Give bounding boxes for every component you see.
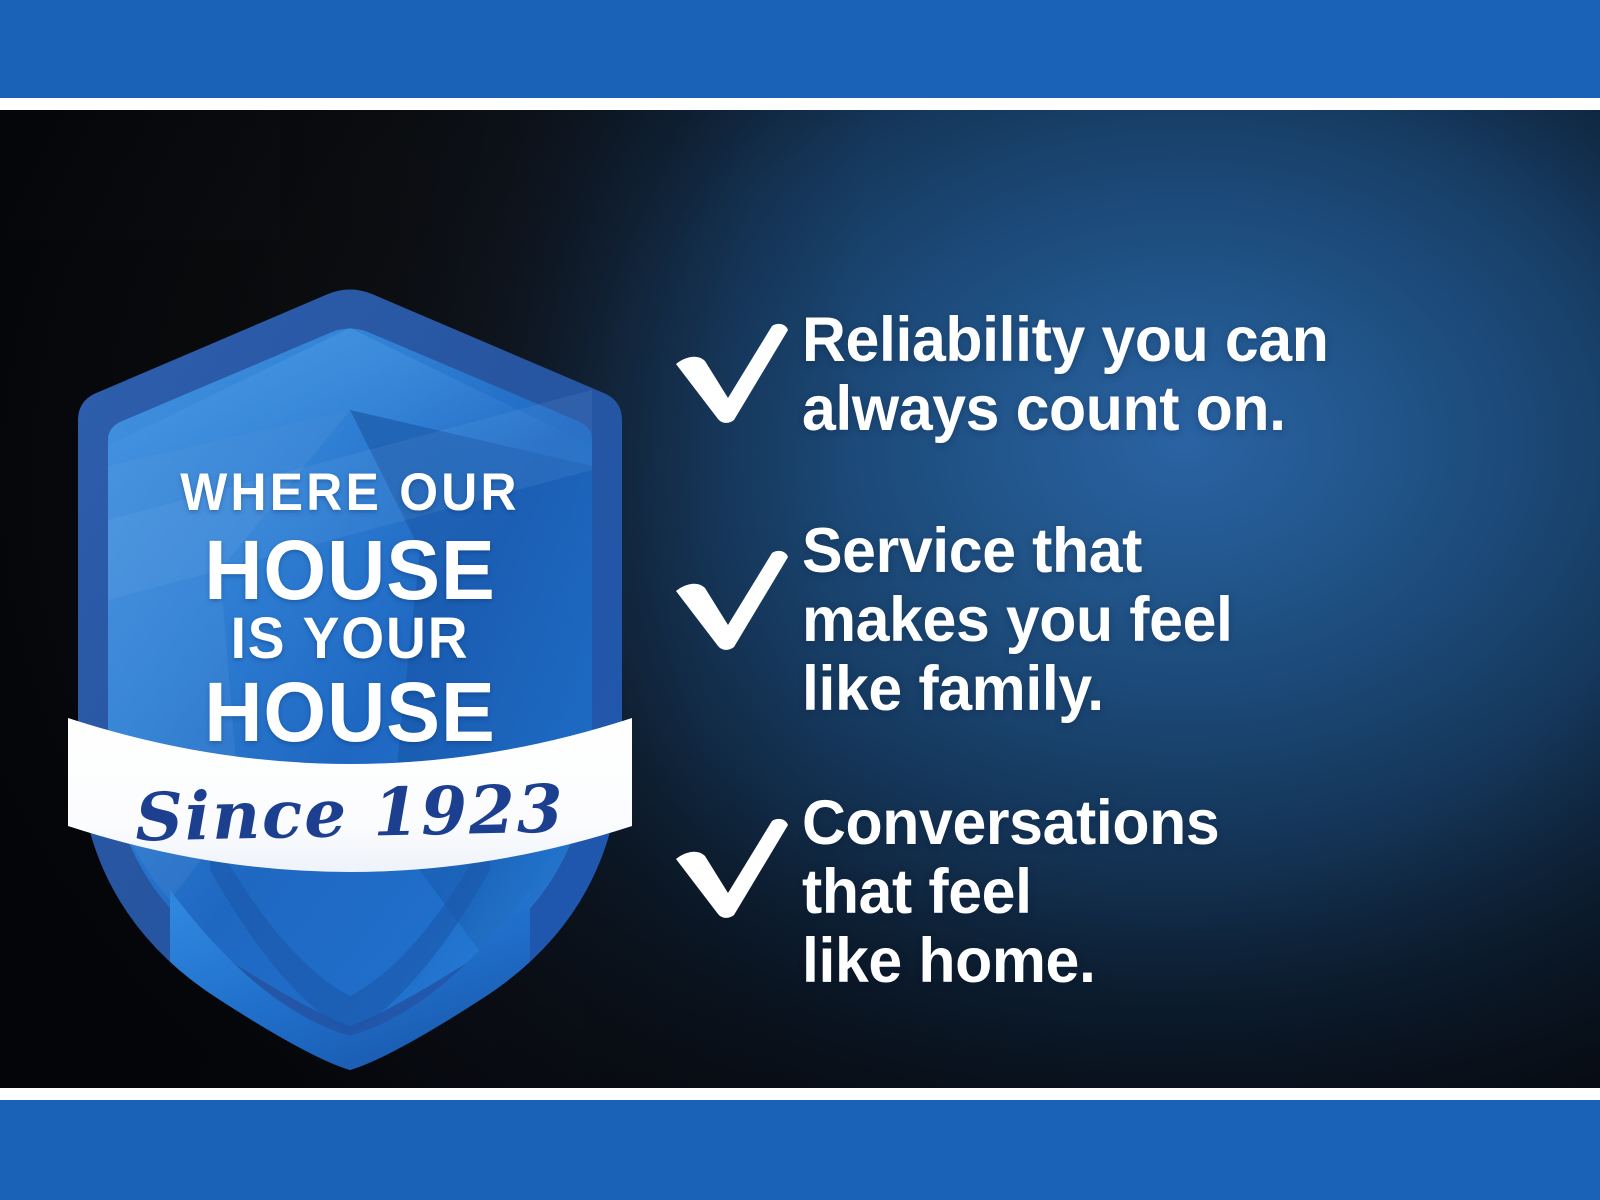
badge-line-2: HOUSE <box>72 528 629 612</box>
benefits-list: Reliability you can always count on. Ser… <box>672 306 1572 1069</box>
badge-line-4: HOUSE <box>72 670 629 754</box>
benefit-item-3: Conversations that feel like home. <box>672 789 1572 995</box>
benefit-text-2: Service that makes you feel like family. <box>802 517 1545 723</box>
promo-graphic: WHERE OUR HOUSE IS YOUR HOUSE Since 1923… <box>0 0 1600 1200</box>
benefit-item-1: Reliability you can always count on. <box>672 306 1572 443</box>
checkmark-icon <box>672 306 802 424</box>
checkmark-icon <box>672 517 802 651</box>
bottom-accent-bar <box>0 1100 1600 1200</box>
benefit-text-1: Reliability you can always count on. <box>802 306 1545 443</box>
shield-badge: WHERE OUR HOUSE IS YOUR HOUSE Since 1923 <box>60 270 640 1070</box>
checkmark-icon <box>672 789 802 919</box>
top-accent-bar <box>0 0 1600 98</box>
badge-line-3: IS YOUR <box>75 610 626 668</box>
main-panel: WHERE OUR HOUSE IS YOUR HOUSE Since 1923… <box>0 110 1600 1088</box>
benefit-item-2: Service that makes you feel like family. <box>672 517 1572 723</box>
benefit-text-3: Conversations that feel like home. <box>802 789 1545 995</box>
badge-line-1: WHERE OUR <box>77 466 622 519</box>
badge-ribbon-text: Since 1923 <box>59 774 640 852</box>
